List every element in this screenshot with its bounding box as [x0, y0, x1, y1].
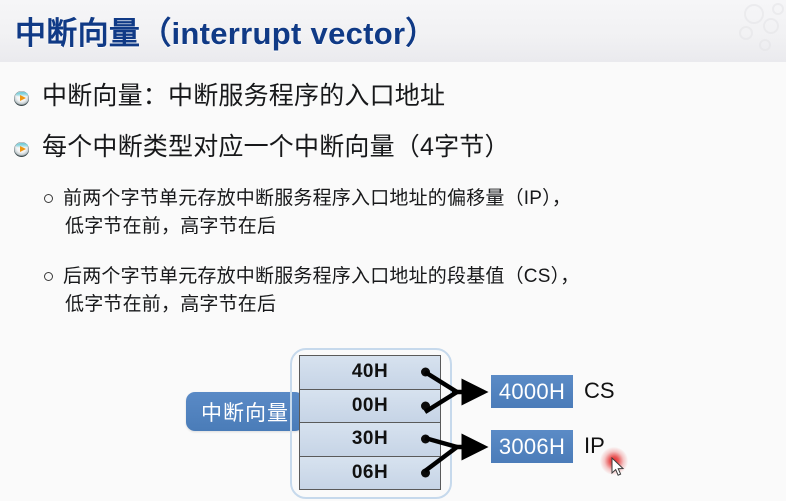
memory-cell-row: 40H — [300, 356, 440, 390]
sub-bullet-item-2: 后两个字节单元存放中断服务程序入口地址的段基值（CS）， 低字节在前，高字节在后 — [44, 263, 580, 318]
hollow-circle-icon — [44, 194, 53, 203]
bullet-item-1: 中断向量：中断服务程序的入口地址 — [14, 84, 445, 109]
memory-cell-value: 06H — [352, 462, 388, 484]
connector-node-dot — [421, 435, 430, 444]
memory-cell-row: 00H — [300, 390, 440, 424]
connector-node-dot — [421, 468, 430, 477]
memory-cell-row: 30H — [300, 423, 440, 457]
result-box-ip: 3006H — [491, 430, 573, 463]
play-circle-icon — [14, 91, 29, 106]
bullet-item-2-label: 每个中断类型对应一个中断向量（4字节） — [42, 135, 510, 160]
sub-bullet-item-2-line1: 后两个字节单元存放中断服务程序入口地址的段基值（CS）， — [63, 266, 580, 287]
memory-cell-value: 30H — [352, 428, 388, 450]
connector-node-dot — [421, 401, 430, 410]
connector-node-dot — [421, 368, 430, 377]
sub-bullet-item-2-text: 后两个字节单元存放中断服务程序入口地址的段基值（CS）， 低字节在前，高字节在后 — [63, 263, 580, 318]
bullet-item-1-label: 中断向量：中断服务程序的入口地址 — [42, 84, 445, 109]
cursor — [600, 447, 634, 481]
sub-bullet-item-1: 前两个字节单元存放中断服务程序入口地址的偏移量（IP）， 低字节在前，高字节在后 — [44, 185, 571, 240]
memory-cell-row: 06H — [300, 457, 440, 490]
hollow-circle-icon — [44, 272, 53, 281]
play-circle-icon — [14, 142, 29, 157]
sub-bullet-item-1-line2: 低字节在前，高字节在后 — [65, 213, 571, 241]
interrupt-vector-label: 中断向量 — [186, 392, 304, 431]
memory-cell-value: 40H — [352, 361, 388, 383]
page-title: 中断向量（interrupt vector） — [15, 8, 437, 53]
register-label-cs: CS — [584, 378, 615, 404]
mouse-pointer-icon — [611, 457, 625, 477]
sub-bullet-item-1-line1: 前两个字节单元存放中断服务程序入口地址的偏移量（IP）， — [63, 188, 571, 209]
memory-cell-table: 40H 00H 30H 06H — [299, 355, 441, 490]
sub-bullet-item-1-text: 前两个字节单元存放中断服务程序入口地址的偏移量（IP）， 低字节在前，高字节在后 — [63, 185, 571, 240]
slide-canvas: 中断向量（interrupt vector） 中断向量：中断服务程序的入口地址 … — [0, 0, 786, 501]
memory-cell-value: 00H — [352, 395, 388, 417]
result-box-cs: 4000H — [491, 375, 573, 408]
sub-bullet-item-2-line2: 低字节在前，高字节在后 — [65, 291, 580, 319]
bullet-item-2: 每个中断类型对应一个中断向量（4字节） — [14, 135, 510, 160]
